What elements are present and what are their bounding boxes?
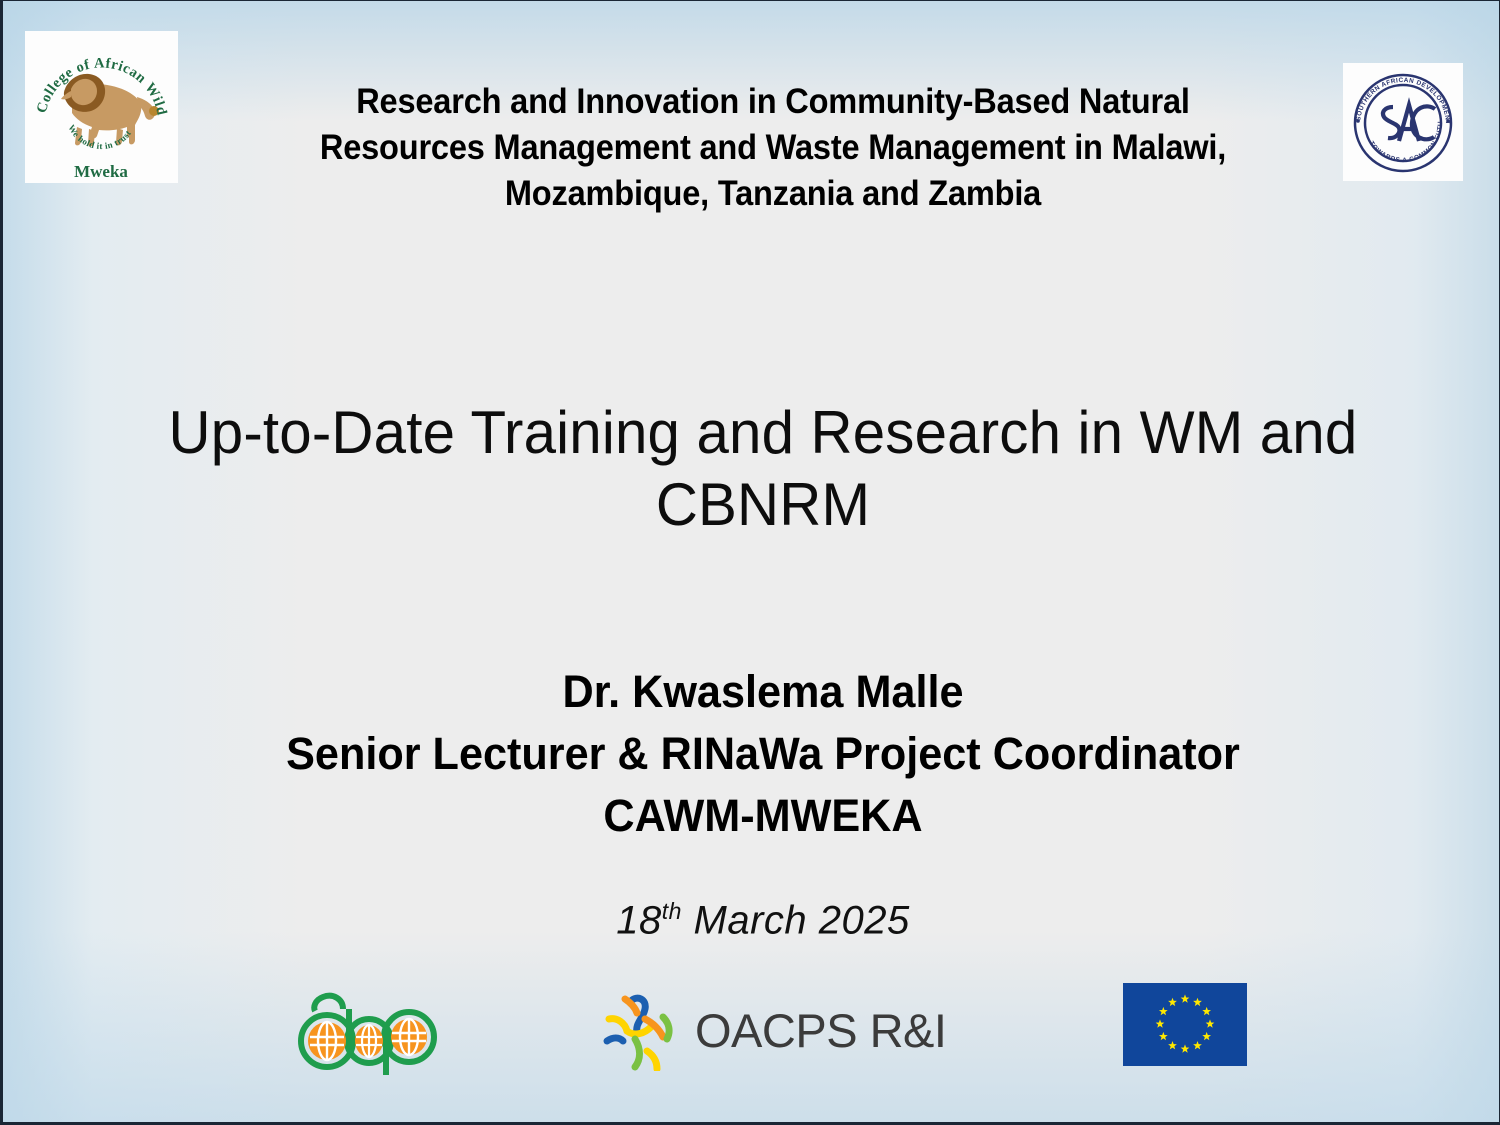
oacps-wordmark: OACPS R&I — [695, 1003, 946, 1058]
eu-flag-graphic — [1123, 983, 1247, 1066]
cawm-mweka-logo-graphic: College of African Wildlife Management W… — [25, 31, 178, 183]
presentation-date: 18th March 2025 — [63, 898, 1463, 943]
header-line-3: Mozambique, Tanzania and Zambia — [252, 171, 1294, 217]
sadc-logo: SOUTHERN AFRICAN DEVELOPMENT COMMUNITY T… — [1343, 63, 1463, 181]
oacps-mark-icon — [601, 989, 689, 1071]
svg-text:Mweka: Mweka — [74, 162, 128, 181]
cawm-mweka-logo: College of African Wildlife Management W… — [25, 31, 178, 183]
date-ordinal-suffix: th — [662, 898, 682, 924]
slide-header: Research and Innovation in Community-Bas… — [252, 79, 1294, 217]
acp-logo — [291, 979, 447, 1079]
european-union-flag — [1123, 983, 1247, 1066]
header-line-1: Research and Innovation in Community-Bas… — [252, 79, 1294, 125]
presenter-name: Dr. Kwaslema Malle — [91, 661, 1435, 723]
presenter-organisation: CAWM-MWEKA — [91, 785, 1435, 847]
acp-logo-graphic — [291, 979, 447, 1079]
header-line-2: Resources Management and Waste Managemen… — [252, 125, 1294, 171]
acp-globes — [308, 1019, 427, 1060]
sadc-logo-graphic: SOUTHERN AFRICAN DEVELOPMENT COMMUNITY T… — [1343, 63, 1463, 181]
date-day: 18 — [616, 898, 662, 942]
oacps-ri-logo: OACPS R&I — [601, 986, 961, 1074]
presenter-role: Senior Lecturer & RINaWa Project Coordin… — [91, 723, 1435, 785]
presentation-slide: College of African Wildlife Management W… — [0, 0, 1500, 1125]
page-title: Up-to-Date Training and Research in WM a… — [84, 397, 1442, 541]
presenter-block: Dr. Kwaslema Malle Senior Lecturer & RIN… — [91, 661, 1435, 847]
date-month-year: March 2025 — [682, 898, 910, 942]
